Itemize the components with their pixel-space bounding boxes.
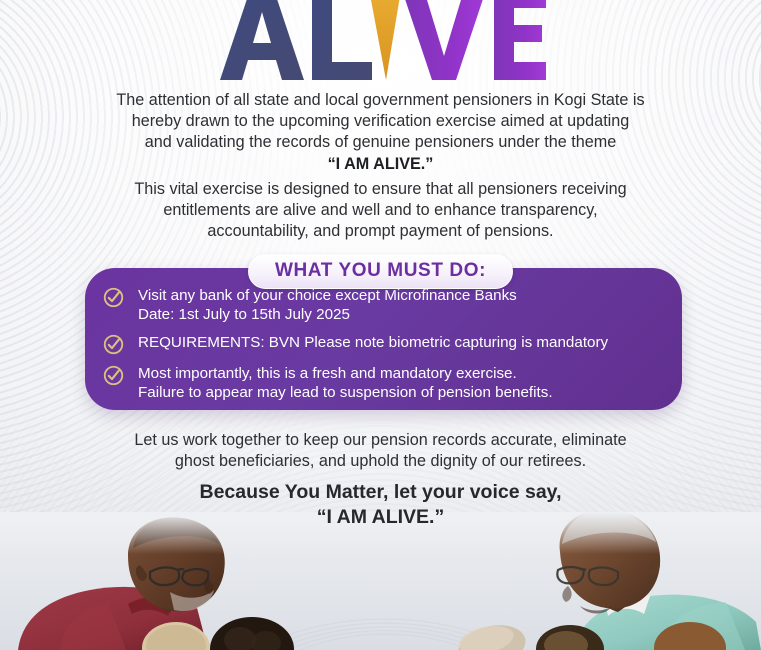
- bullet-2-line-1: REQUIREMENTS: BVN Please note biometric …: [138, 333, 608, 352]
- list-item-text: Most importantly, this is a fresh and ma…: [138, 364, 553, 402]
- closing-statement: Because You Matter, let your voice say, …: [60, 480, 701, 530]
- list-item-text: Visit any bank of your choice except Mic…: [138, 286, 517, 324]
- poster-canvas: The attention of all state and local gov…: [0, 0, 761, 650]
- bullet-1-line-2: Date: 1st July to 15th July 2025: [138, 305, 517, 324]
- check-circle-icon: [103, 365, 124, 386]
- closing-line-1: Because You Matter, let your voice say,: [60, 480, 701, 505]
- unity-line-2: ghost beneficiaries, and uphold the dign…: [60, 451, 701, 472]
- bullet-3-line-1: Most importantly, this is a fresh and ma…: [138, 364, 553, 383]
- callout-bullet-list: Visit any bank of your choice except Mic…: [85, 286, 682, 403]
- callout-header-wrap: WHAT YOU MUST DO:: [0, 254, 761, 289]
- theme-quote: “I AM ALIVE.”: [60, 154, 701, 175]
- intro-paragraph: The attention of all state and local gov…: [60, 90, 701, 175]
- callout-header-pill: WHAT YOU MUST DO:: [248, 254, 513, 289]
- alive-logo: [0, 0, 761, 72]
- pensioners-photo: [0, 512, 761, 650]
- purpose-line-2: entitlements are alive and well and to e…: [60, 200, 701, 221]
- list-item-text: REQUIREMENTS: BVN Please note biometric …: [138, 333, 608, 352]
- bullet-3-line-2: Failure to appear may lead to suspension…: [138, 383, 553, 402]
- intro-line-2: hereby drawn to the upcoming verificatio…: [60, 111, 701, 132]
- intro-line-1: The attention of all state and local gov…: [60, 90, 701, 111]
- purpose-line-3: accountability, and prompt payment of pe…: [60, 221, 701, 242]
- list-item: Visit any bank of your choice except Mic…: [103, 286, 664, 324]
- unity-paragraph: Let us work together to keep our pension…: [60, 430, 701, 472]
- purpose-paragraph: This vital exercise is designed to ensur…: [60, 179, 701, 242]
- unity-line-1: Let us work together to keep our pension…: [60, 430, 701, 451]
- purpose-line-1: This vital exercise is designed to ensur…: [60, 179, 701, 200]
- intro-line-3: and validating the records of genuine pe…: [60, 132, 701, 153]
- check-circle-icon: [103, 334, 124, 355]
- closing-line-2: “I AM ALIVE.”: [60, 505, 701, 530]
- check-circle-icon: [103, 287, 124, 308]
- list-item: Most importantly, this is a fresh and ma…: [103, 364, 664, 402]
- list-item: REQUIREMENTS: BVN Please note biometric …: [103, 333, 664, 355]
